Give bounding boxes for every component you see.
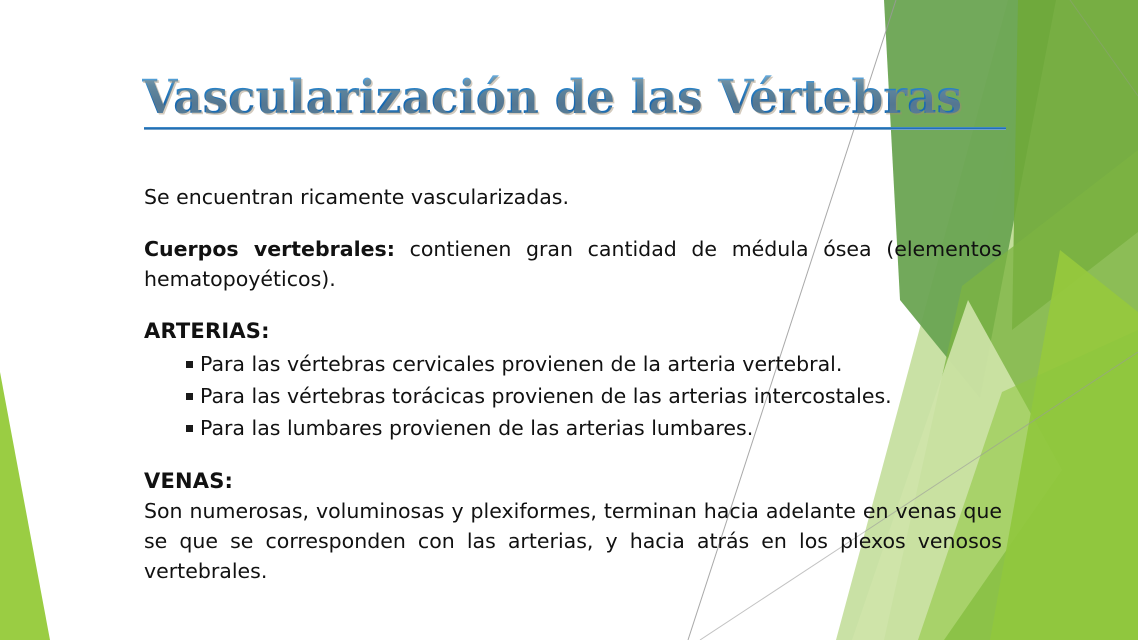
title-block: Vascularización de las Vértebras [142,72,1022,134]
spacer [144,294,1002,316]
title-underline [144,127,1006,130]
list-item-label: Para las vértebras torácicas provienen d… [200,384,892,408]
spacer [144,444,1002,466]
list-item: Para las vértebras cervicales provienen … [200,348,1002,380]
hairline-diagonal-tertiary [1070,0,1138,96]
square-bullet-icon [186,393,193,400]
vertebral-bodies-label: Cuerpos vertebrales: [144,237,395,261]
list-item: Para las vértebras torácicas provienen d… [200,380,1002,412]
spacer [144,212,1002,234]
veins-heading: VENAS: [144,466,1002,496]
list-item-label: Para las vértebras cervicales provienen … [200,352,842,376]
vertebral-bodies-paragraph: Cuerpos vertebrales: contienen gran cant… [144,234,1002,294]
slide-body: Se encuentran ricamente vascularizadas. … [144,182,1002,586]
veins-paragraph: Son numerosas, voluminosas y plexiformes… [144,496,1002,586]
lower-right-bright-block [990,250,1138,640]
list-item-label: Para las lumbares provienen de las arter… [200,416,753,440]
arteries-heading: ARTERIAS: [144,316,1002,346]
list-item: Para las lumbares provienen de las arter… [200,412,1002,444]
arteries-bullet-list: Para las vértebras cervicales provienen … [144,348,1002,444]
upper-green-wedge [1012,0,1138,330]
intro-paragraph: Se encuentran ricamente vascularizadas. [144,182,1002,212]
square-bullet-icon [186,425,193,432]
page-title: Vascularización de las Vértebras [142,72,996,124]
presentation-slide: Vascularización de las Vértebras Se encu… [0,0,1138,640]
square-bullet-icon [186,361,193,368]
bottom-left-green-triangle [0,372,50,640]
